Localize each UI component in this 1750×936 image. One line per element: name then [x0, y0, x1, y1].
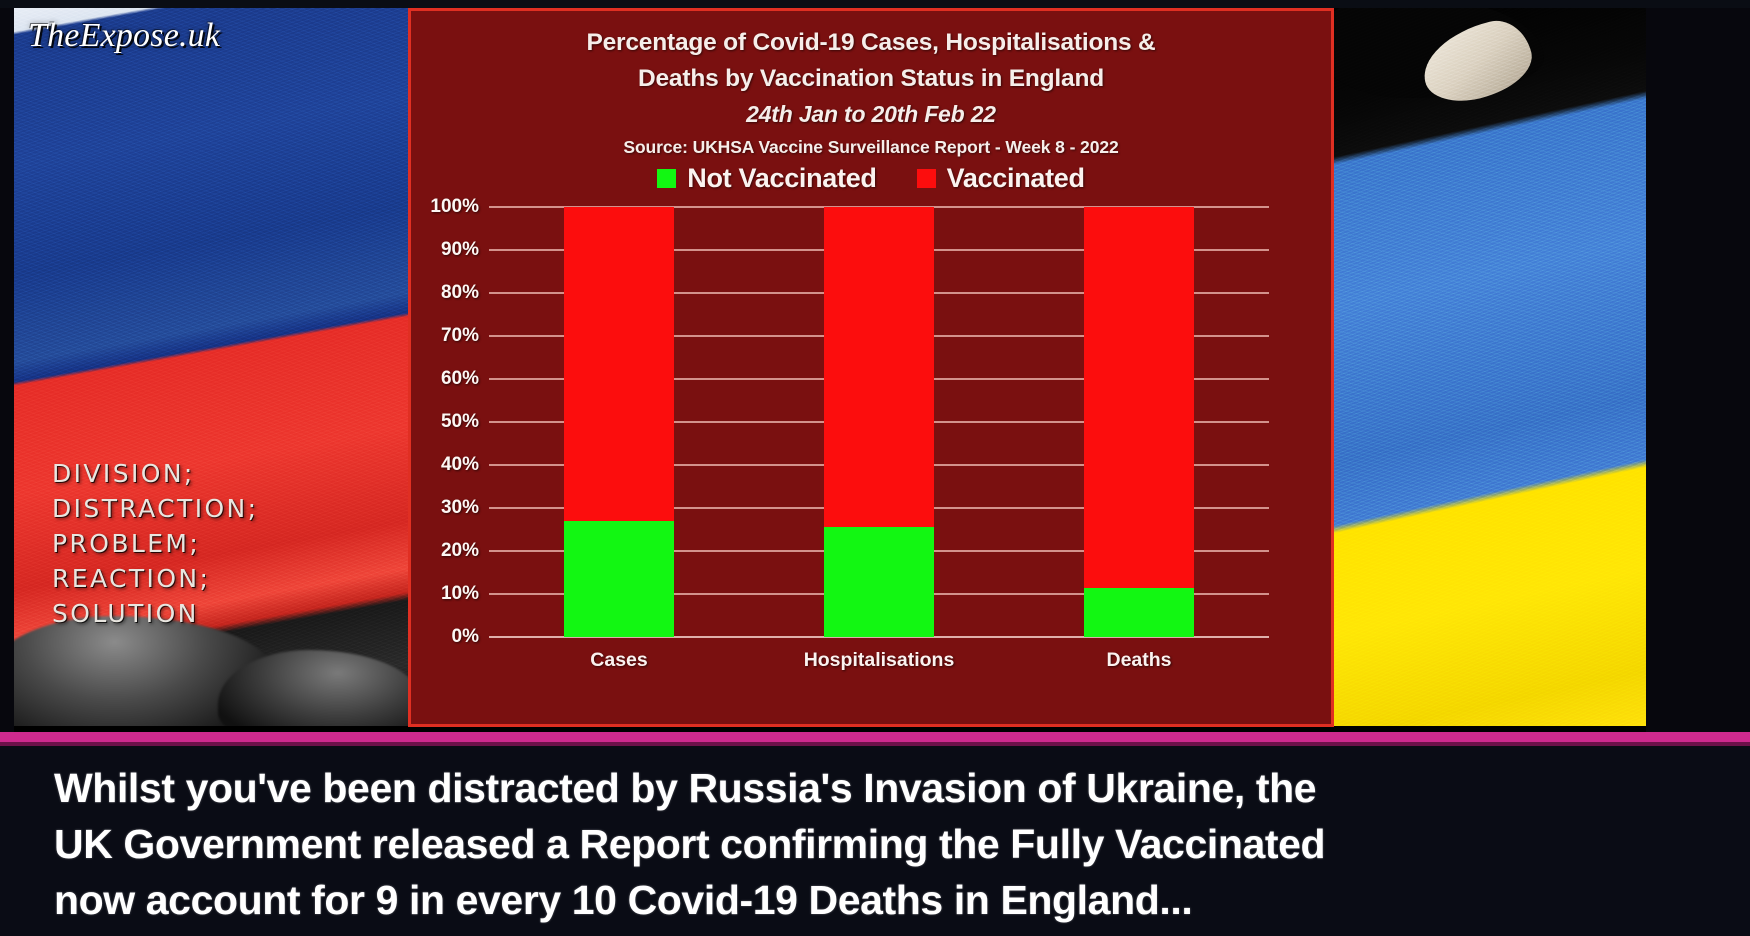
- chart-bars: [489, 207, 1269, 637]
- y-axis-tick-70: 70%: [441, 325, 479, 347]
- y-axis-tick-20: 20%: [441, 540, 479, 562]
- y-axis-tick-50: 50%: [441, 411, 479, 433]
- caption-line-1: Whilst you've been distracted by Russia'…: [54, 760, 1696, 816]
- chart-panel: Percentage of Covid-19 Cases, Hospitalis…: [408, 8, 1334, 727]
- stacked-bar-cases: [564, 207, 674, 637]
- legend-item-vaccinated: Vaccinated: [917, 163, 1085, 194]
- legend-item-not-vaccinated: Not Vaccinated: [657, 163, 876, 194]
- bar-segment-vaccinated-hospitalisations: [824, 207, 934, 527]
- slogan-line-1: DIVISION;: [52, 456, 259, 491]
- left-letterbox-edge: [0, 0, 14, 733]
- ukraine-flag-photo: [1334, 8, 1646, 726]
- video-background-band: TheExpose.uk DIVISION; DISTRACTION; PROB…: [0, 0, 1750, 733]
- y-axis-tick-30: 30%: [441, 497, 479, 519]
- y-axis-tick-100: 100%: [430, 196, 479, 218]
- legend-swatch-red-icon: [917, 169, 936, 188]
- y-axis-tick-60: 60%: [441, 368, 479, 390]
- y-axis-tick-40: 40%: [441, 454, 479, 476]
- legend-swatch-green-icon: [657, 169, 676, 188]
- slogan-line-4: REACTION;: [52, 561, 259, 596]
- x-axis-label-cases: Cases: [489, 649, 749, 672]
- chart-title-block: Percentage of Covid-19 Cases, Hospitalis…: [411, 25, 1331, 162]
- slogan-line-5: SOLUTION: [52, 596, 259, 631]
- top-letterbox-edge: [0, 0, 1750, 8]
- bar-slot-hospitalisations: [749, 207, 1009, 637]
- caption-bar: Whilst you've been distracted by Russia'…: [0, 746, 1750, 936]
- chart-legend: Not Vaccinated Vaccinated: [411, 163, 1331, 194]
- bar-segment-not-vaccinated-hospitalisations: [824, 527, 934, 637]
- chart-title-line-2: Deaths by Vaccination Status in England: [411, 61, 1331, 97]
- y-axis-tick-80: 80%: [441, 282, 479, 304]
- bar-segment-not-vaccinated-cases: [564, 521, 674, 637]
- stacked-bar-hospitalisations: [824, 207, 934, 637]
- chart-subtitle-date: 24th Jan to 20th Feb 22: [411, 97, 1331, 132]
- bar-segment-not-vaccinated-deaths: [1084, 588, 1194, 637]
- x-axis-label-deaths: Deaths: [1009, 649, 1269, 672]
- y-axis-tick-0: 0%: [452, 626, 479, 648]
- caption-line-3: now account for 9 in every 10 Covid-19 D…: [54, 872, 1696, 928]
- magenta-divider-shadow: [0, 742, 1750, 746]
- right-letterbox-edge: [1646, 0, 1750, 733]
- bar-slot-cases: [489, 207, 749, 637]
- y-axis-tick-10: 10%: [441, 583, 479, 605]
- slogan-line-2: DISTRACTION;: [52, 491, 259, 526]
- stacked-bar-deaths: [1084, 207, 1194, 637]
- site-watermark: TheExpose.uk: [28, 17, 220, 55]
- legend-label-vaccinated: Vaccinated: [947, 163, 1085, 194]
- video-frame: TheExpose.uk DIVISION; DISTRACTION; PROB…: [0, 0, 1750, 936]
- y-axis-tick-labels: 100%90%80%70%60%50%40%30%20%10%0%: [411, 207, 479, 637]
- bar-segment-vaccinated-cases: [564, 207, 674, 521]
- slogan-line-3: PROBLEM;: [52, 526, 259, 561]
- y-axis-tick-90: 90%: [441, 239, 479, 261]
- x-axis-label-hospitalisations: Hospitalisations: [749, 649, 1009, 672]
- chart-source-note: Source: UKHSA Vaccine Surveillance Repor…: [411, 132, 1331, 162]
- chart-title-line-1: Percentage of Covid-19 Cases, Hospitalis…: [411, 25, 1331, 61]
- photo-grain-right: [1334, 8, 1646, 726]
- legend-label-not-vaccinated: Not Vaccinated: [687, 163, 876, 194]
- slogan-overlay: DIVISION; DISTRACTION; PROBLEM; REACTION…: [52, 456, 259, 631]
- chart-plot-area: 100%90%80%70%60%50%40%30%20%10%0% CasesH…: [411, 207, 1334, 687]
- caption-line-2: UK Government released a Report confirmi…: [54, 816, 1696, 872]
- x-axis-category-labels: CasesHospitalisationsDeaths: [489, 649, 1269, 672]
- magenta-divider: [0, 732, 1750, 742]
- bar-segment-vaccinated-deaths: [1084, 207, 1194, 588]
- bar-slot-deaths: [1009, 207, 1269, 637]
